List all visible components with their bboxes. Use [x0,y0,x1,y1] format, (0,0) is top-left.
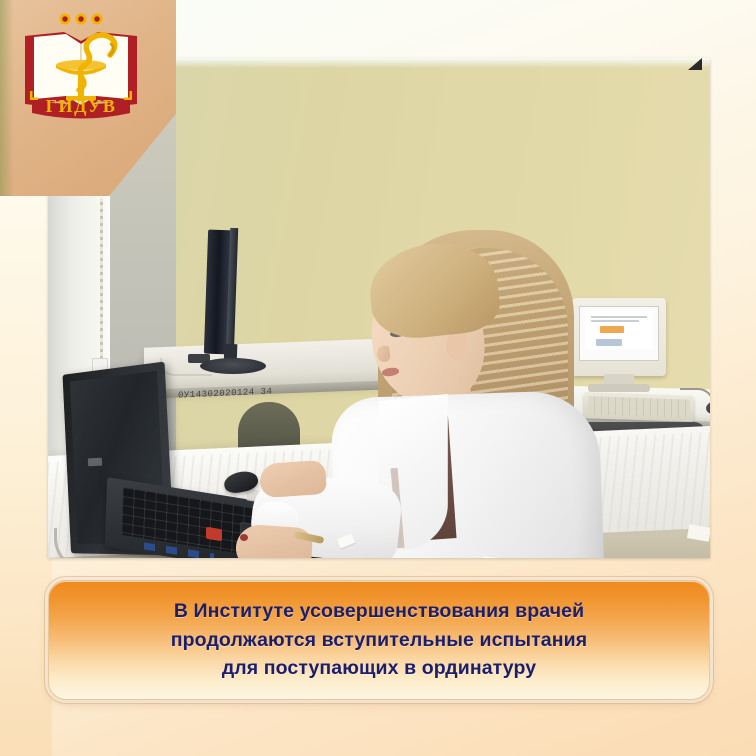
gidouv-emblem[interactable]: ГИДУВ [12,6,150,124]
announcement-line-2: продолжаются вступительные испытания [171,626,587,655]
hand-on-desk [235,523,314,558]
fingernail [240,534,248,541]
announcement-poster: 0У14302020124 34 [0,0,756,756]
announcement-line-3: для поступающих в ординатуру [171,654,587,683]
star-icon [60,14,103,25]
emblem-acronym: ГИДУВ [46,96,117,116]
announcement-text: В Институте усовершенствования врачей пр… [145,597,613,683]
announcement-banner: В Институте усовершенствования врачей пр… [48,580,710,700]
announcement-line-1: В Институте усовершенствования врачей [171,597,587,626]
hand-on-mouse [259,460,327,499]
laptop-logo [88,458,102,467]
nose [376,345,391,362]
laptop-badge [206,527,222,542]
